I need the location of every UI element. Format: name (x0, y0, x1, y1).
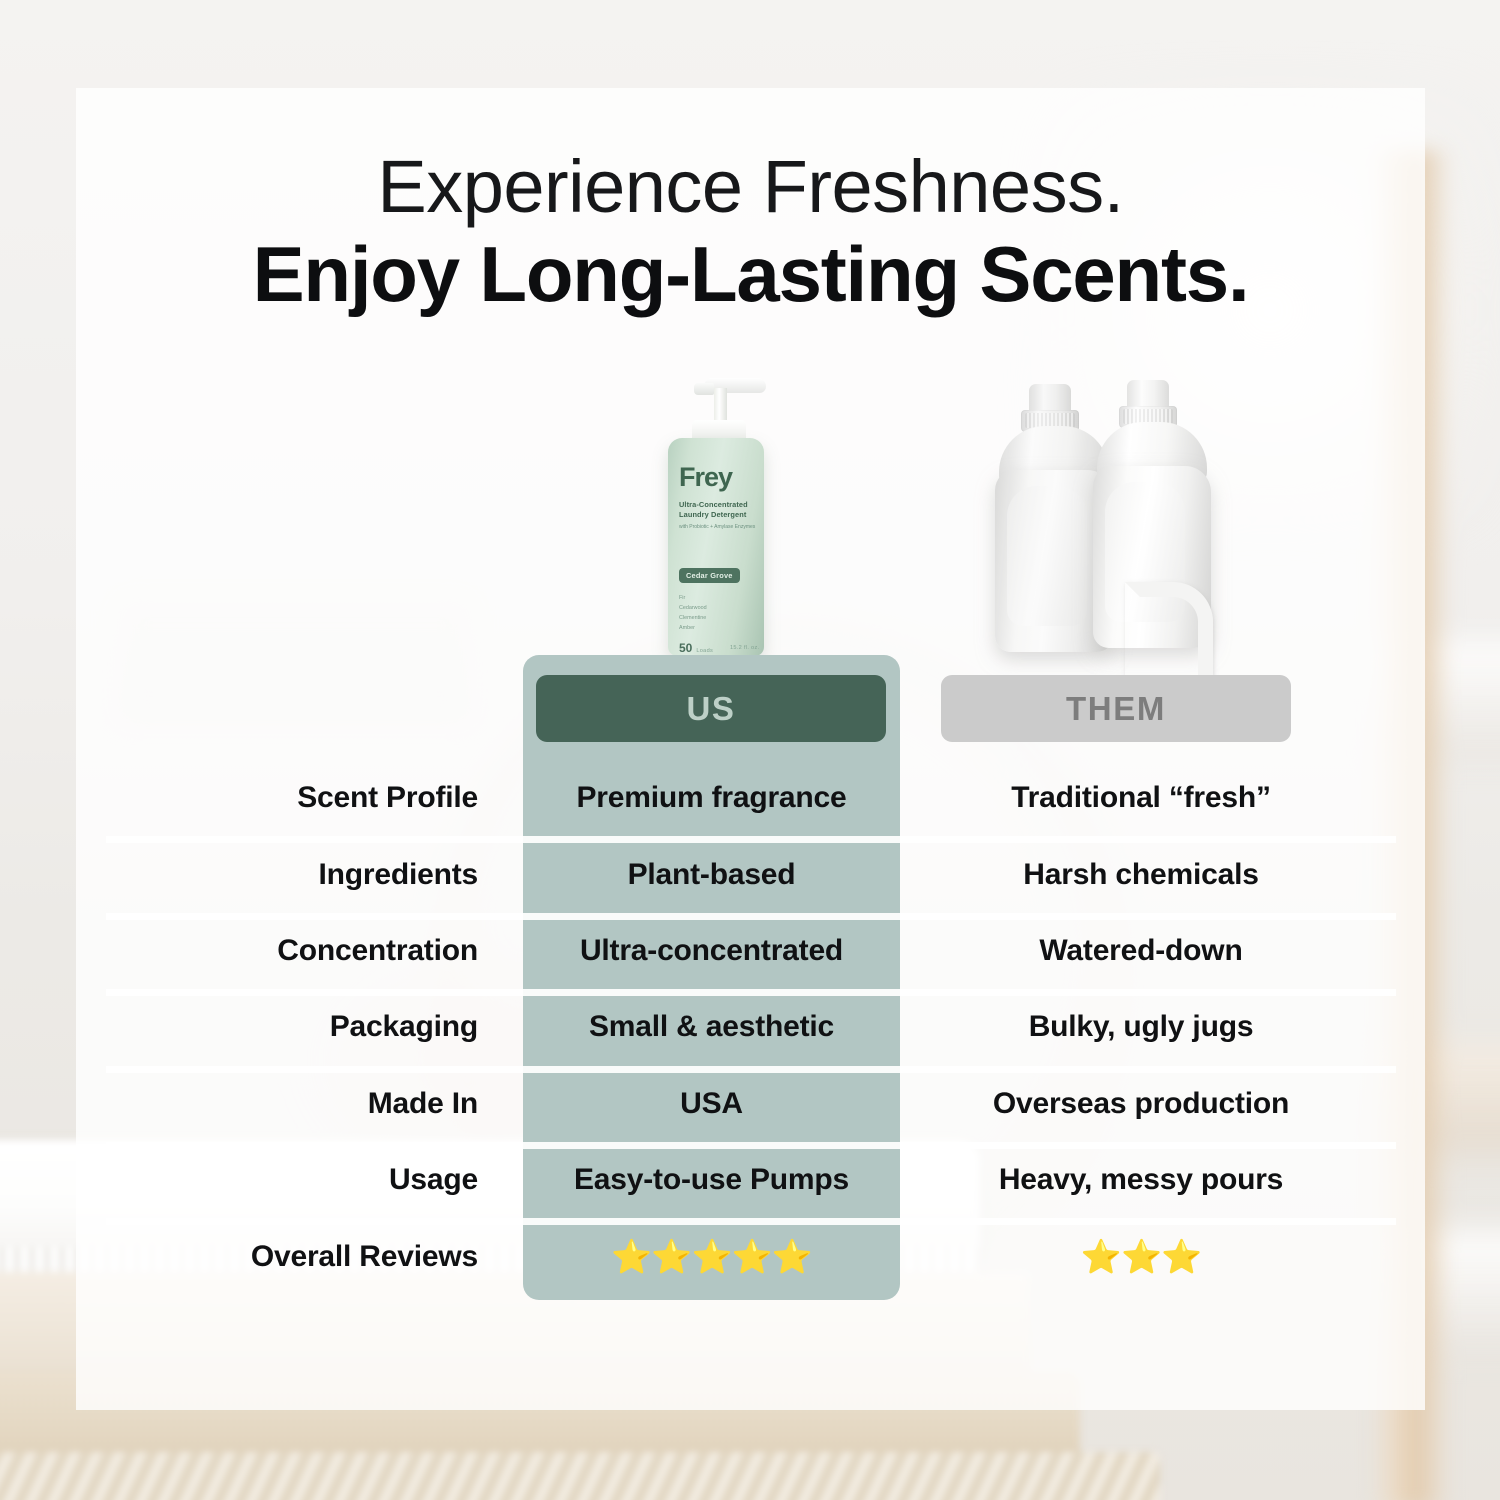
frey-logo: Frey (679, 462, 732, 493)
row-value-them: Traditional “fresh” (936, 781, 1346, 815)
row-label: Scent Profile (136, 781, 478, 815)
table-row: Made In USA Overseas production (76, 1066, 1425, 1142)
row-label: Usage (136, 1163, 478, 1197)
row-separator (106, 913, 1396, 920)
bottle-subtitle-line-2: Laundry Detergent (679, 510, 757, 520)
row-value-them: Bulky, ugly jugs (936, 1010, 1346, 1044)
bottle-body: Frey Ultra-Concentrated Laundry Detergen… (668, 438, 764, 656)
row-value-them: Heavy, messy pours (936, 1163, 1346, 1197)
ad-canvas: Experience Freshness. Enjoy Long-Lasting… (0, 0, 1500, 1500)
row-value-us: Plant-based (523, 858, 900, 892)
scent-note-2: Cedarwood (679, 603, 749, 613)
column-header-them: THEM (941, 675, 1291, 742)
row-value-us: Easy-to-use Pumps (523, 1163, 900, 1197)
row-value-them: Harsh chemicals (936, 858, 1346, 892)
row-value-us: Ultra-concentrated (523, 934, 900, 968)
row-value-us: Premium fragrance (523, 781, 900, 815)
bottle-claim: with Probiotic + Amylase Enzymes (679, 524, 759, 531)
table-row: Usage Easy-to-use Pumps Heavy, messy pou… (76, 1142, 1425, 1218)
row-separator (106, 836, 1396, 843)
scent-note-1: Fir (679, 593, 749, 603)
competitor-jug-front (1093, 380, 1211, 648)
bottle-subtitle: Ultra-Concentrated Laundry Detergent (679, 500, 757, 520)
headline-block: Experience Freshness. Enjoy Long-Lasting… (76, 150, 1425, 316)
row-separator (106, 989, 1396, 996)
table-row: Scent Profile Premium fragrance Traditio… (76, 760, 1425, 836)
scent-notes: Fir Cedarwood Clementine Amber (679, 593, 749, 633)
scent-note-3: Clementine (679, 613, 749, 623)
background-basket (0, 1452, 1160, 1500)
row-label: Concentration (136, 934, 478, 968)
frey-product-bottle: Frey Ultra-Concentrated Laundry Detergen… (668, 372, 764, 656)
row-separator (106, 1066, 1396, 1073)
scent-badge: Cedar Grove (679, 568, 740, 583)
table-row: Ingredients Plant-based Harsh chemicals (76, 836, 1425, 912)
bottle-subtitle-line-1: Ultra-Concentrated (679, 500, 757, 510)
row-label: Made In (136, 1087, 478, 1121)
table-row: Concentration Ultra-concentrated Watered… (76, 913, 1425, 989)
loads-count: 50Loads (679, 641, 713, 655)
competitor-jugs (995, 380, 1235, 655)
row-value-them: Overseas production (936, 1087, 1346, 1121)
table-row: Overall Reviews ⭐⭐⭐⭐⭐ ⭐⭐⭐ (76, 1218, 1425, 1294)
scent-note-4: Amber (679, 623, 749, 633)
comparison-table: US THEM Scent Profile Premium fragrance … (76, 655, 1425, 1305)
row-label: Overall Reviews (136, 1240, 478, 1274)
row-separator (106, 1142, 1396, 1149)
pump-stem (714, 388, 727, 424)
row-value-us: Small & aesthetic (523, 1010, 900, 1044)
star-rating-us: ⭐⭐⭐⭐⭐ (523, 1240, 900, 1273)
loads-word: Loads (696, 648, 713, 654)
table-body: Scent Profile Premium fragrance Traditio… (76, 760, 1425, 1295)
loads-number: 50 (679, 641, 692, 655)
row-value-us: USA (523, 1087, 900, 1121)
bottle-volume: 15.2 fl. oz. (730, 645, 759, 651)
row-value-them: Watered-down (936, 934, 1346, 968)
row-label: Packaging (136, 1010, 478, 1044)
star-rating-them: ⭐⭐⭐ (936, 1240, 1346, 1273)
row-label: Ingredients (136, 858, 478, 892)
headline-line-2: Enjoy Long-Lasting Scents. (76, 232, 1425, 316)
table-row: Packaging Small & aesthetic Bulky, ugly … (76, 989, 1425, 1065)
row-separator (106, 1218, 1396, 1225)
table-header-row: US THEM (76, 655, 1425, 760)
headline-line-1: Experience Freshness. (76, 150, 1425, 224)
column-header-us: US (536, 675, 886, 742)
